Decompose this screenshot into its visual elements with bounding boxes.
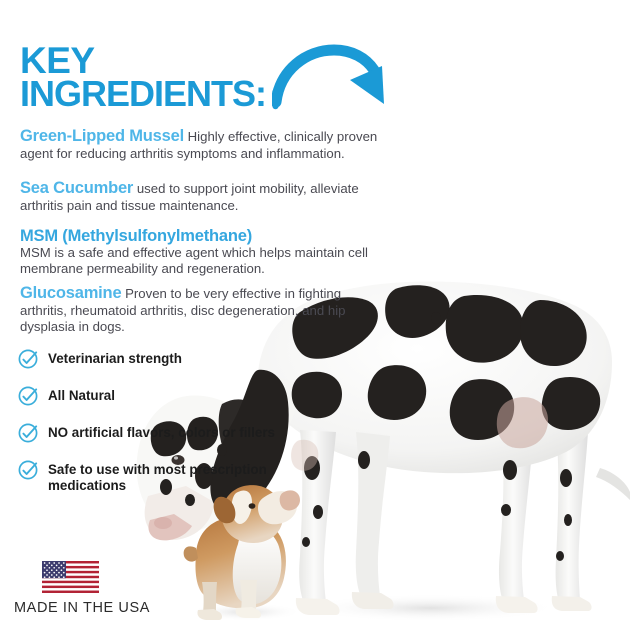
- list-item: Veterinarian strength: [17, 349, 287, 370]
- infographic-page: KEY INGREDIENTS: Green-Lipped Mussel Hig…: [0, 0, 630, 630]
- content-layer: KEY INGREDIENTS: Green-Lipped Mussel Hig…: [0, 0, 630, 630]
- list-item-label: Veterinarian strength: [48, 349, 182, 367]
- list-item: NO artificial flavors, colors or fillers: [17, 423, 287, 444]
- list-item-label: Safe to use with most prescription medic…: [48, 460, 287, 494]
- check-circle-icon: [17, 459, 39, 481]
- ingredient-green-lipped-mussel: Green-Lipped Mussel Highly effective, cl…: [20, 128, 380, 162]
- ingredient-paragraph: Sea Cucumber used to support joint mobil…: [20, 180, 380, 214]
- list-item-label: NO artificial flavors, colors or fillers: [48, 423, 275, 441]
- curved-arrow-icon: [272, 44, 387, 116]
- feature-checklist: Veterinarian strength All Natural: [17, 349, 287, 494]
- made-in-usa-badge: MADE IN THE USA: [14, 561, 164, 616]
- us-flag-icon: [42, 561, 99, 593]
- ingredient-paragraph: Green-Lipped Mussel Highly effective, cl…: [20, 128, 380, 162]
- check-circle-icon: [17, 422, 39, 444]
- ingredient-name: Sea Cucumber: [20, 179, 133, 197]
- ingredient-name: Glucosamine: [20, 284, 121, 302]
- made-in-usa-label: MADE IN THE USA: [14, 600, 164, 616]
- ingredient-name: Green-Lipped Mussel: [20, 127, 184, 145]
- ingredient-paragraph: MSM (Methylsulfonylmethane)MSM is a safe…: [20, 228, 380, 278]
- ingredient-glucosamine: Glucosamine Proven to be very effective …: [20, 285, 380, 336]
- list-item: Safe to use with most prescription medic…: [17, 460, 287, 494]
- ingredient-description: MSM is a safe and effective agent which …: [20, 245, 368, 277]
- list-item-label: All Natural: [48, 386, 115, 404]
- ingredient-msm: MSM (Methylsulfonylmethane)MSM is a safe…: [20, 228, 380, 278]
- ingredient-paragraph: Glucosamine Proven to be very effective …: [20, 285, 380, 336]
- check-circle-icon: [17, 348, 39, 370]
- ingredient-name: MSM (Methylsulfonylmethane): [20, 228, 380, 245]
- check-circle-icon: [17, 385, 39, 407]
- ingredient-sea-cucumber: Sea Cucumber used to support joint mobil…: [20, 180, 380, 214]
- list-item: All Natural: [17, 386, 287, 407]
